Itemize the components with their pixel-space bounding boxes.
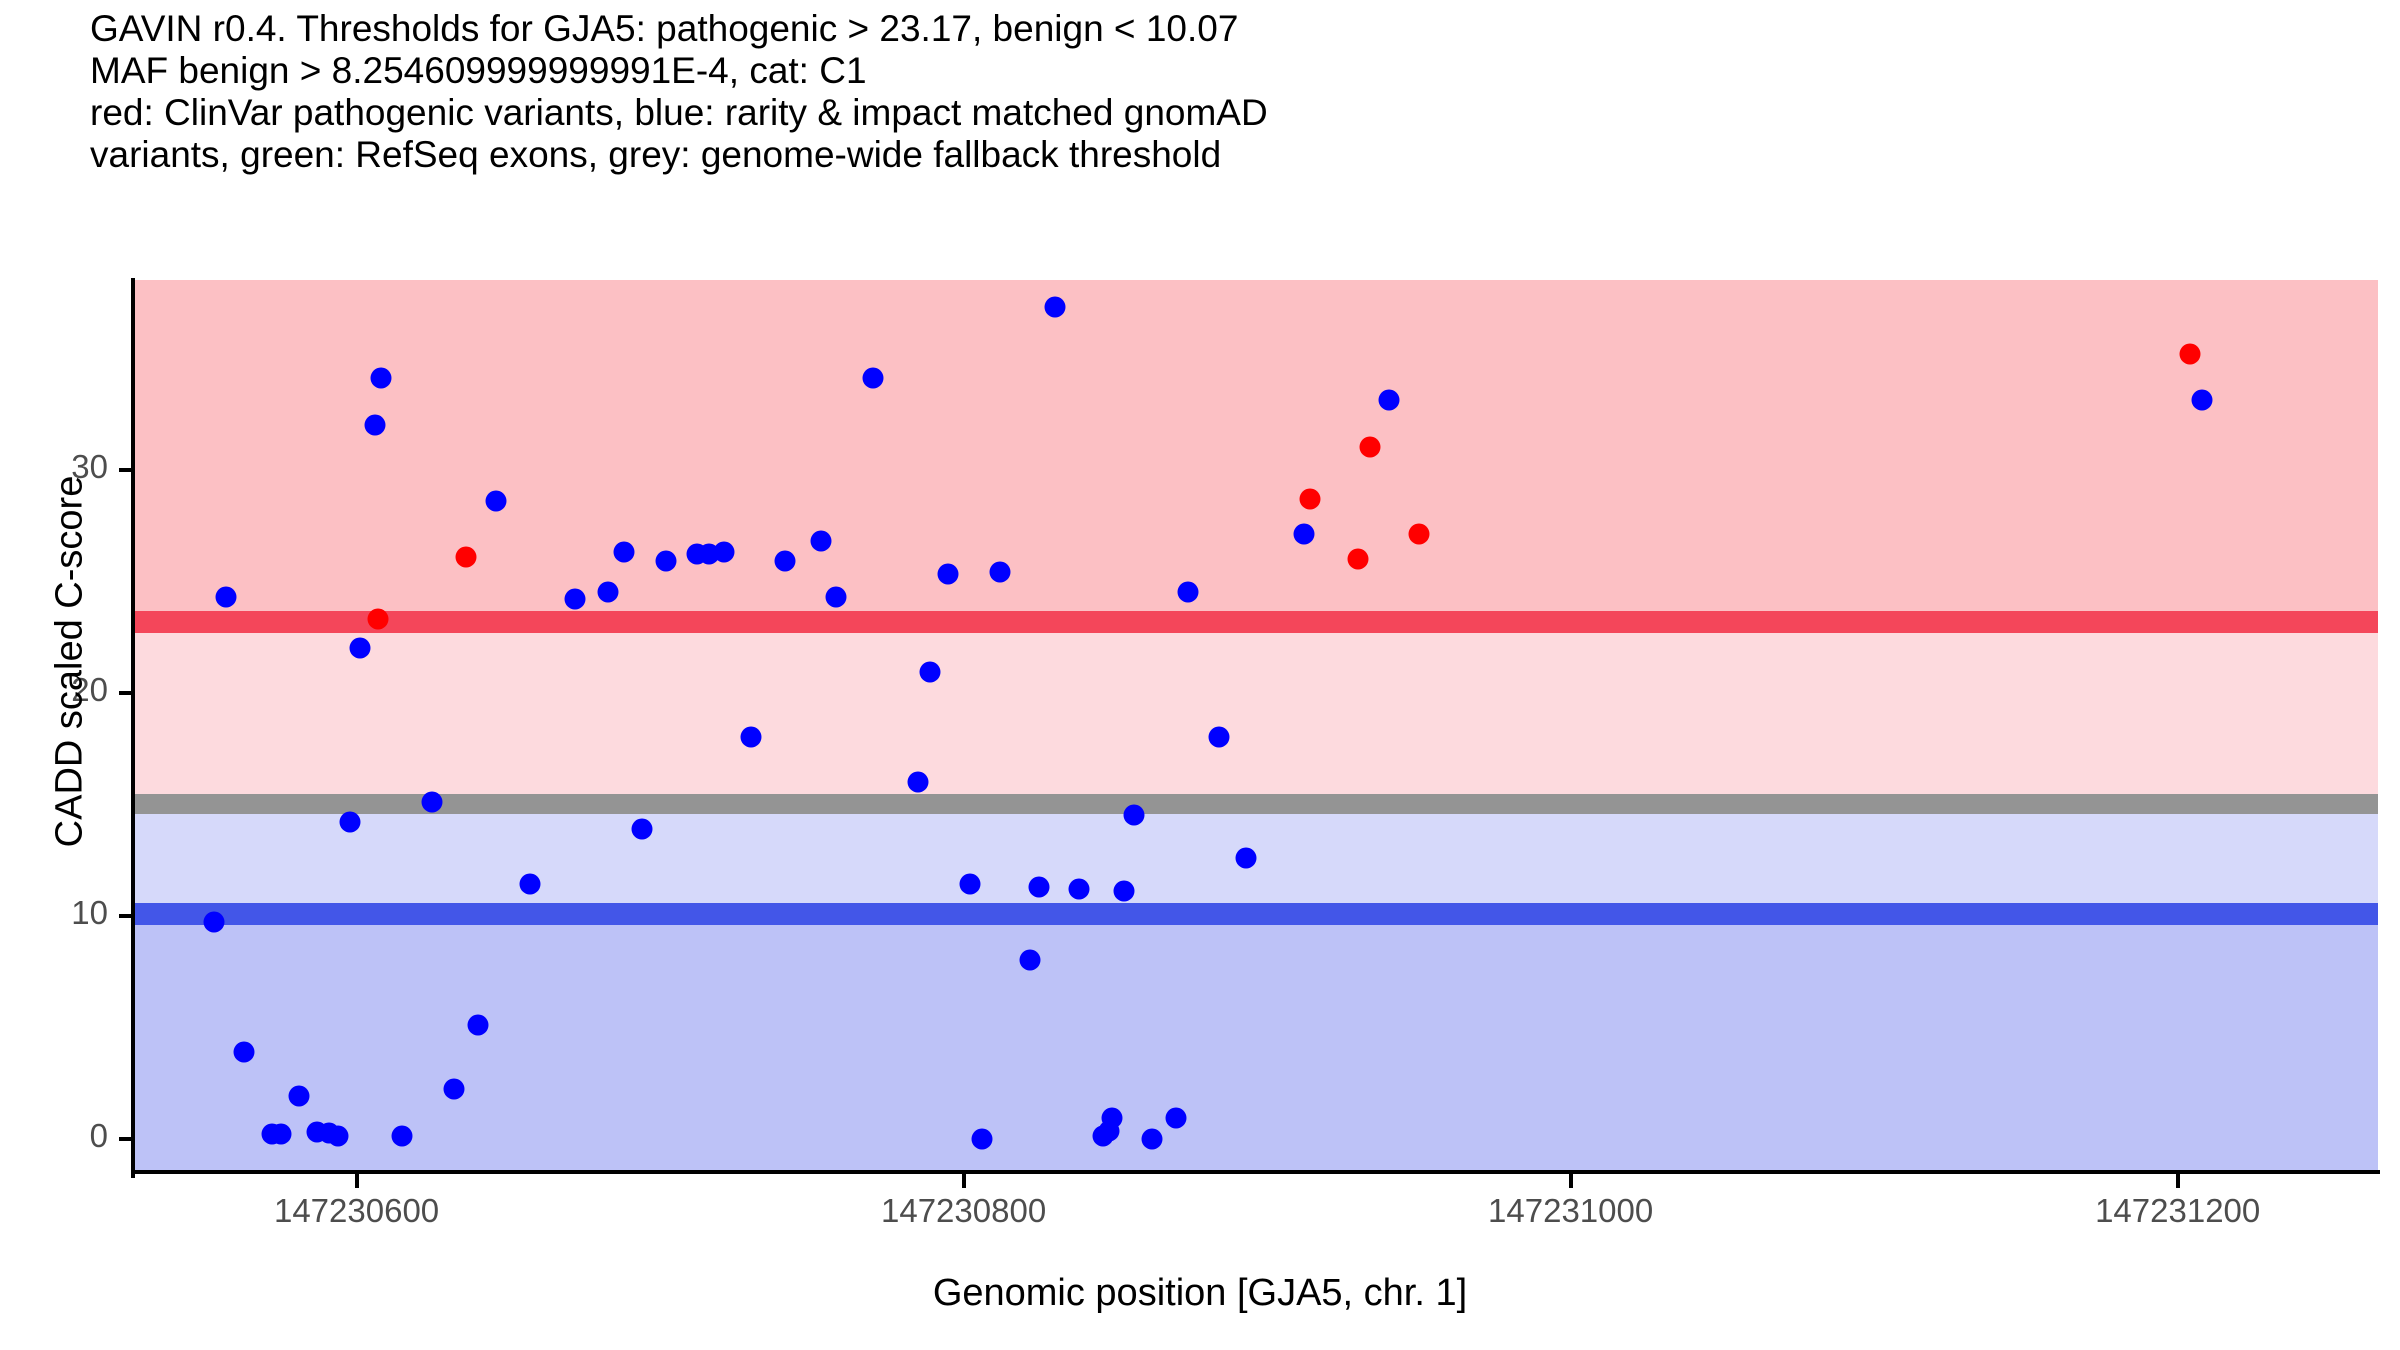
benign-data-point[interactable] [288, 1086, 309, 1107]
y-axis-title: CADD scaled C-score [49, 342, 92, 982]
y-axis-line [131, 278, 135, 1178]
chart-root: GAVIN r0.4. Thresholds for GJA5: pathoge… [0, 0, 2400, 1350]
benign-data-point[interactable] [486, 490, 507, 511]
benign-data-point[interactable] [656, 550, 677, 571]
benign-data-point[interactable] [234, 1041, 255, 1062]
chart-title-block: GAVIN r0.4. Thresholds for GJA5: pathoge… [90, 8, 2380, 176]
benign-data-point[interactable] [810, 530, 831, 551]
benign-data-point[interactable] [565, 588, 586, 609]
pathogenic-data-point[interactable] [2179, 343, 2200, 364]
benign-data-point[interactable] [203, 912, 224, 933]
benign-data-point[interactable] [467, 1014, 488, 1035]
benign-data-point[interactable] [1044, 296, 1065, 317]
benign-data-point[interactable] [1141, 1128, 1162, 1149]
x-axis-title: Genomic position [GJA5, chr. 1] [0, 1272, 2400, 1315]
benign-data-point[interactable] [990, 562, 1011, 583]
benign-data-point[interactable] [741, 727, 762, 748]
benign-data-point[interactable] [774, 550, 795, 571]
y-tick-label: 0 [0, 1117, 108, 1155]
x-tick [1569, 1174, 1573, 1188]
benign-data-point[interactable] [1068, 878, 1089, 899]
benign-data-point[interactable] [971, 1128, 992, 1149]
pathogenic-data-point[interactable] [367, 608, 388, 629]
x-tick-label: 147231000 [1488, 1192, 1653, 1230]
pathogenic-data-point[interactable] [455, 546, 476, 567]
benign-data-point[interactable] [1114, 881, 1135, 902]
benign-data-point[interactable] [938, 564, 959, 585]
benign-data-point[interactable] [1208, 727, 1229, 748]
benign-data-point[interactable] [1166, 1108, 1187, 1129]
benign-data-point[interactable] [631, 818, 652, 839]
benign-data-point[interactable] [349, 637, 370, 658]
pathogenic-threshold-line [135, 611, 2378, 633]
title-line-4: variants, green: RefSeq exons, grey: gen… [90, 134, 2380, 176]
benign-data-point[interactable] [1293, 524, 1314, 545]
benign-data-point[interactable] [443, 1079, 464, 1100]
benign-data-point[interactable] [613, 542, 634, 563]
x-tick [2176, 1174, 2180, 1188]
benign-data-point[interactable] [1020, 950, 1041, 971]
x-tick-label: 147231200 [2095, 1192, 2260, 1230]
benign-data-point[interactable] [826, 586, 847, 607]
benign-data-point[interactable] [1123, 805, 1144, 826]
benign-data-point[interactable] [340, 811, 361, 832]
plot-panel [135, 280, 2378, 1172]
benign-data-point[interactable] [1178, 582, 1199, 603]
pathogenic-data-point[interactable] [1348, 548, 1369, 569]
benign-data-point[interactable] [392, 1126, 413, 1147]
x-tick-label: 147230800 [881, 1192, 1046, 1230]
pathogenic-data-point[interactable] [1299, 488, 1320, 509]
band-vus-upper [135, 622, 2378, 804]
band-benign [135, 914, 2378, 1172]
benign-data-point[interactable] [920, 662, 941, 683]
pathogenic-data-point[interactable] [1408, 524, 1429, 545]
benign-threshold-line [135, 903, 2378, 925]
benign-data-point[interactable] [2191, 390, 2212, 411]
benign-data-point[interactable] [519, 874, 540, 895]
benign-data-point[interactable] [598, 582, 619, 603]
benign-data-point[interactable] [1378, 390, 1399, 411]
benign-data-point[interactable] [422, 791, 443, 812]
band-vus-lower [135, 804, 2378, 914]
title-line-2: MAF benign > 8.254609999999991E-4, cat: … [90, 50, 2380, 92]
benign-data-point[interactable] [1029, 876, 1050, 897]
title-line-3: red: ClinVar pathogenic variants, blue: … [90, 92, 2380, 134]
y-tick [119, 468, 133, 472]
band-pathogenic [135, 280, 2378, 622]
fallback-threshold-line [135, 794, 2378, 814]
benign-data-point[interactable] [1102, 1108, 1123, 1129]
benign-data-point[interactable] [370, 368, 391, 389]
benign-data-point[interactable] [713, 542, 734, 563]
benign-data-point[interactable] [1235, 847, 1256, 868]
y-tick [119, 1137, 133, 1141]
benign-data-point[interactable] [959, 874, 980, 895]
pathogenic-data-point[interactable] [1360, 437, 1381, 458]
title-line-1: GAVIN r0.4. Thresholds for GJA5: pathoge… [90, 8, 2380, 50]
x-tick [962, 1174, 966, 1188]
benign-data-point[interactable] [270, 1124, 291, 1145]
benign-data-point[interactable] [216, 586, 237, 607]
x-tick-label: 147230600 [274, 1192, 439, 1230]
y-tick [119, 914, 133, 918]
y-tick [119, 691, 133, 695]
benign-data-point[interactable] [328, 1126, 349, 1147]
benign-data-point[interactable] [862, 368, 883, 389]
x-axis-line [131, 1170, 2380, 1174]
benign-data-point[interactable] [364, 414, 385, 435]
benign-data-point[interactable] [908, 771, 929, 792]
x-tick [355, 1174, 359, 1188]
